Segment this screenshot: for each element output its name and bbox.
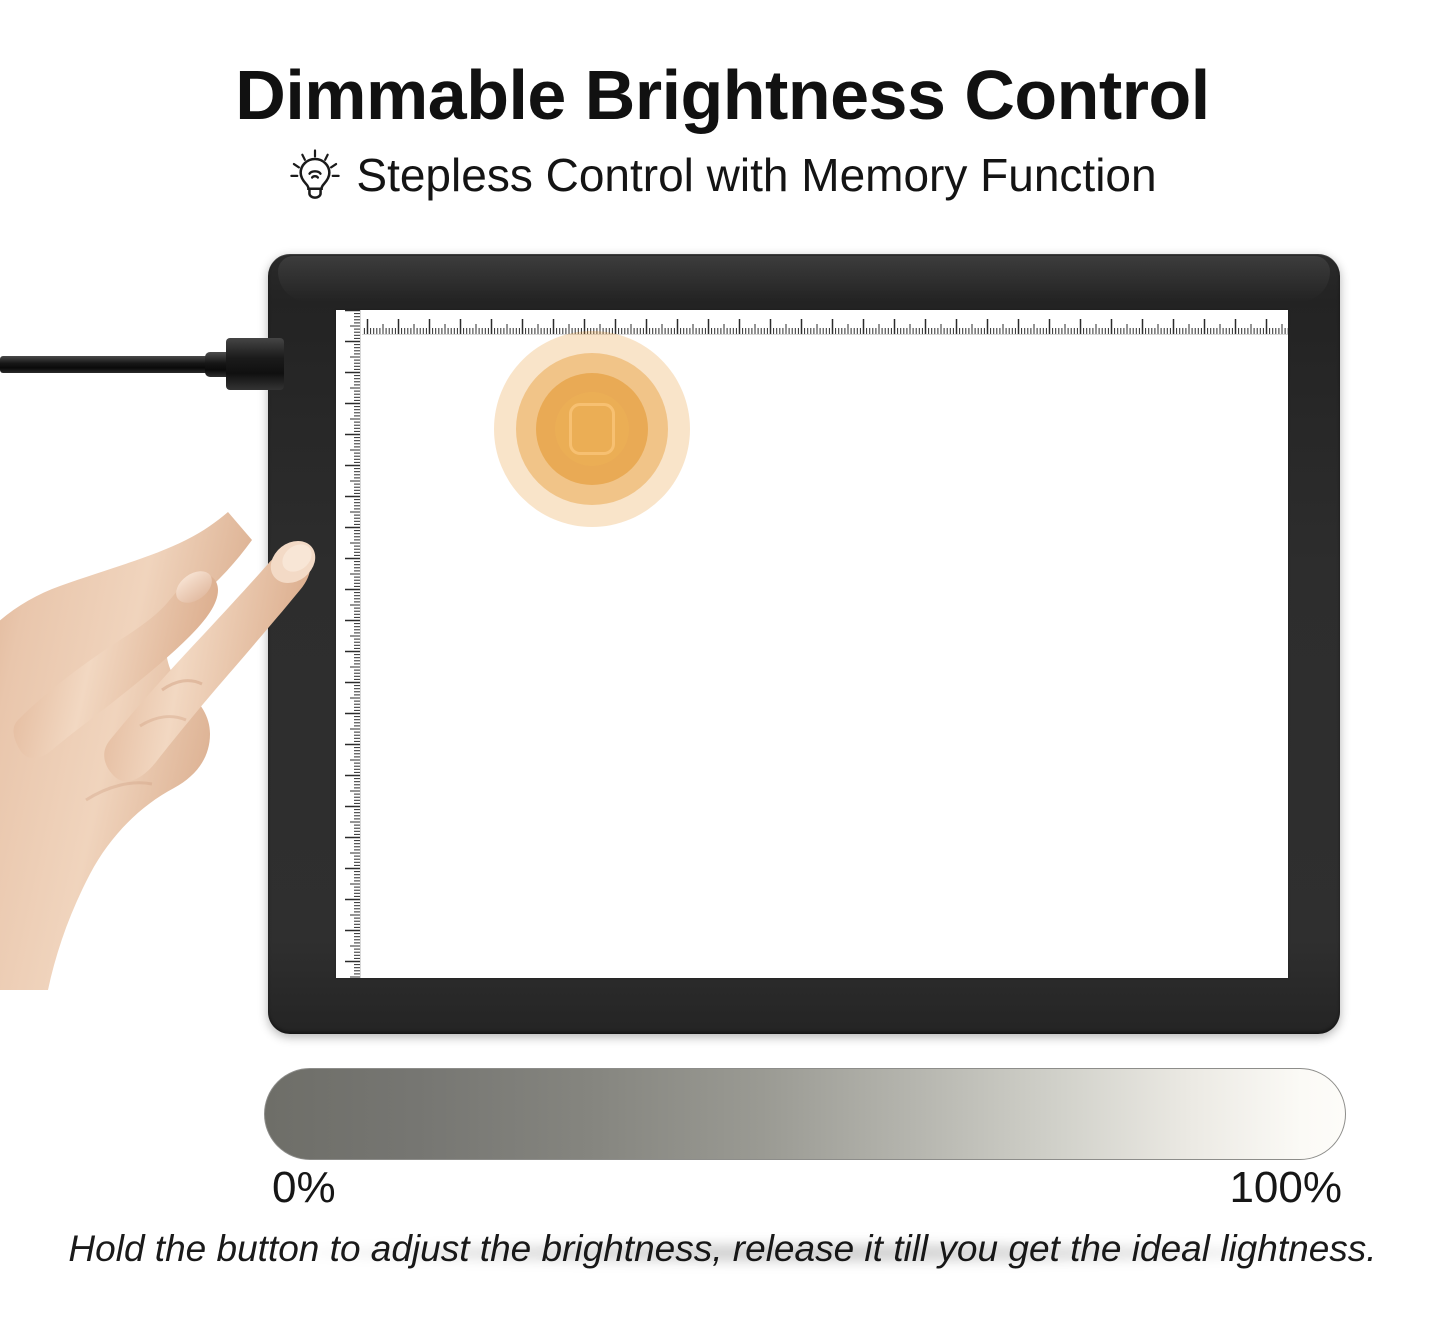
- cable-cord: [0, 356, 220, 373]
- brightness-slider[interactable]: 0% 100%: [0, 1062, 1445, 1232]
- slider-max-label: 100%: [1229, 1166, 1342, 1210]
- slider-gradient-track[interactable]: [264, 1068, 1346, 1160]
- light-pad-screen: [336, 310, 1288, 978]
- pad-drop-shadow: [280, 1240, 1330, 1266]
- slider-labels: 0% 100%: [264, 1166, 1346, 1222]
- light-pad-body: [268, 254, 1340, 1034]
- pressing-hand: [0, 390, 330, 1010]
- page-subtitle: Stepless Control with Memory Function: [356, 152, 1156, 198]
- lightbulb-icon: [288, 148, 342, 202]
- subtitle-row: Stepless Control with Memory Function: [0, 148, 1445, 202]
- marketing-image: Dimmable Brightness Control: [0, 0, 1445, 1318]
- ruler-top: [336, 310, 1288, 336]
- header: Dimmable Brightness Control: [0, 0, 1445, 202]
- slider-min-label: 0%: [272, 1166, 336, 1210]
- page-title: Dimmable Brightness Control: [0, 0, 1445, 130]
- light-pad-stage: [0, 240, 1445, 1050]
- ruler-left: [336, 310, 362, 978]
- usb-connector-head: [226, 338, 284, 390]
